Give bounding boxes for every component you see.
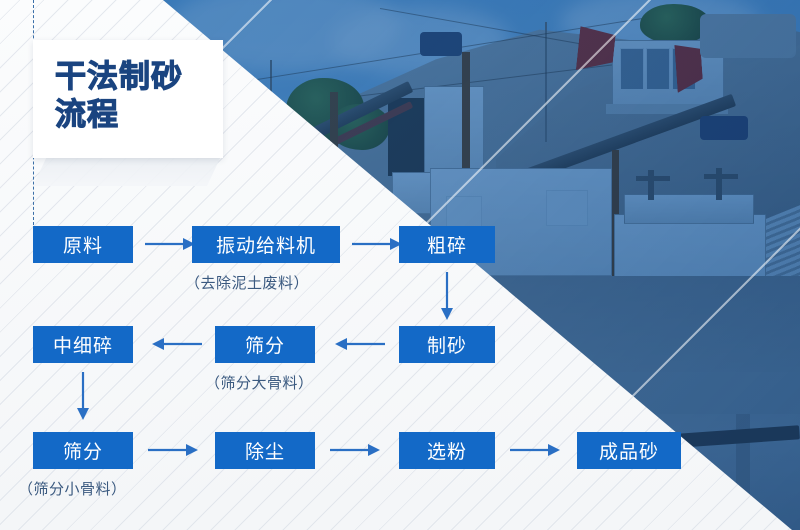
arrow-right-icon [145, 236, 195, 252]
flow-box-dust-removal[interactable]: 除尘 [215, 432, 315, 469]
arrow-right-icon [510, 442, 560, 458]
infographic-canvas: 干法制砂 流程 原料 振动给料机 （去除泥土废料） 粗碎 中细碎 筛分 （筛分大… [0, 0, 800, 530]
title-card: 干法制砂 流程 [33, 40, 223, 158]
note-remove-soil-waste: （去除泥土废料） [185, 272, 309, 293]
flow-box-screening-small[interactable]: 筛分 [33, 432, 133, 469]
flow-box-raw-material[interactable]: 原料 [33, 226, 133, 263]
page-title: 干法制砂 流程 [55, 58, 183, 134]
arrow-down-icon [439, 272, 455, 320]
arrow-left-icon [335, 336, 385, 352]
flow-box-medium-fine-crushing[interactable]: 中细碎 [33, 326, 133, 363]
note-screen-large-aggregate: （筛分大骨料） [205, 372, 314, 393]
arrow-right-icon [330, 442, 380, 458]
flow-box-powder-selection[interactable]: 选粉 [399, 432, 495, 469]
flow-box-vibrating-feeder[interactable]: 振动给料机 [192, 226, 340, 263]
flow-box-coarse-crushing[interactable]: 粗碎 [399, 226, 495, 263]
flow-box-sand-making[interactable]: 制砂 [399, 326, 495, 363]
flow-box-screening-large[interactable]: 筛分 [215, 326, 315, 363]
arrow-right-icon [148, 442, 198, 458]
flow-box-finished-sand[interactable]: 成品砂 [577, 432, 681, 469]
arrow-down-icon [75, 372, 91, 420]
note-screen-small-aggregate: （筛分小骨料） [18, 478, 127, 499]
arrow-right-icon [352, 236, 402, 252]
arrow-left-icon [152, 336, 202, 352]
